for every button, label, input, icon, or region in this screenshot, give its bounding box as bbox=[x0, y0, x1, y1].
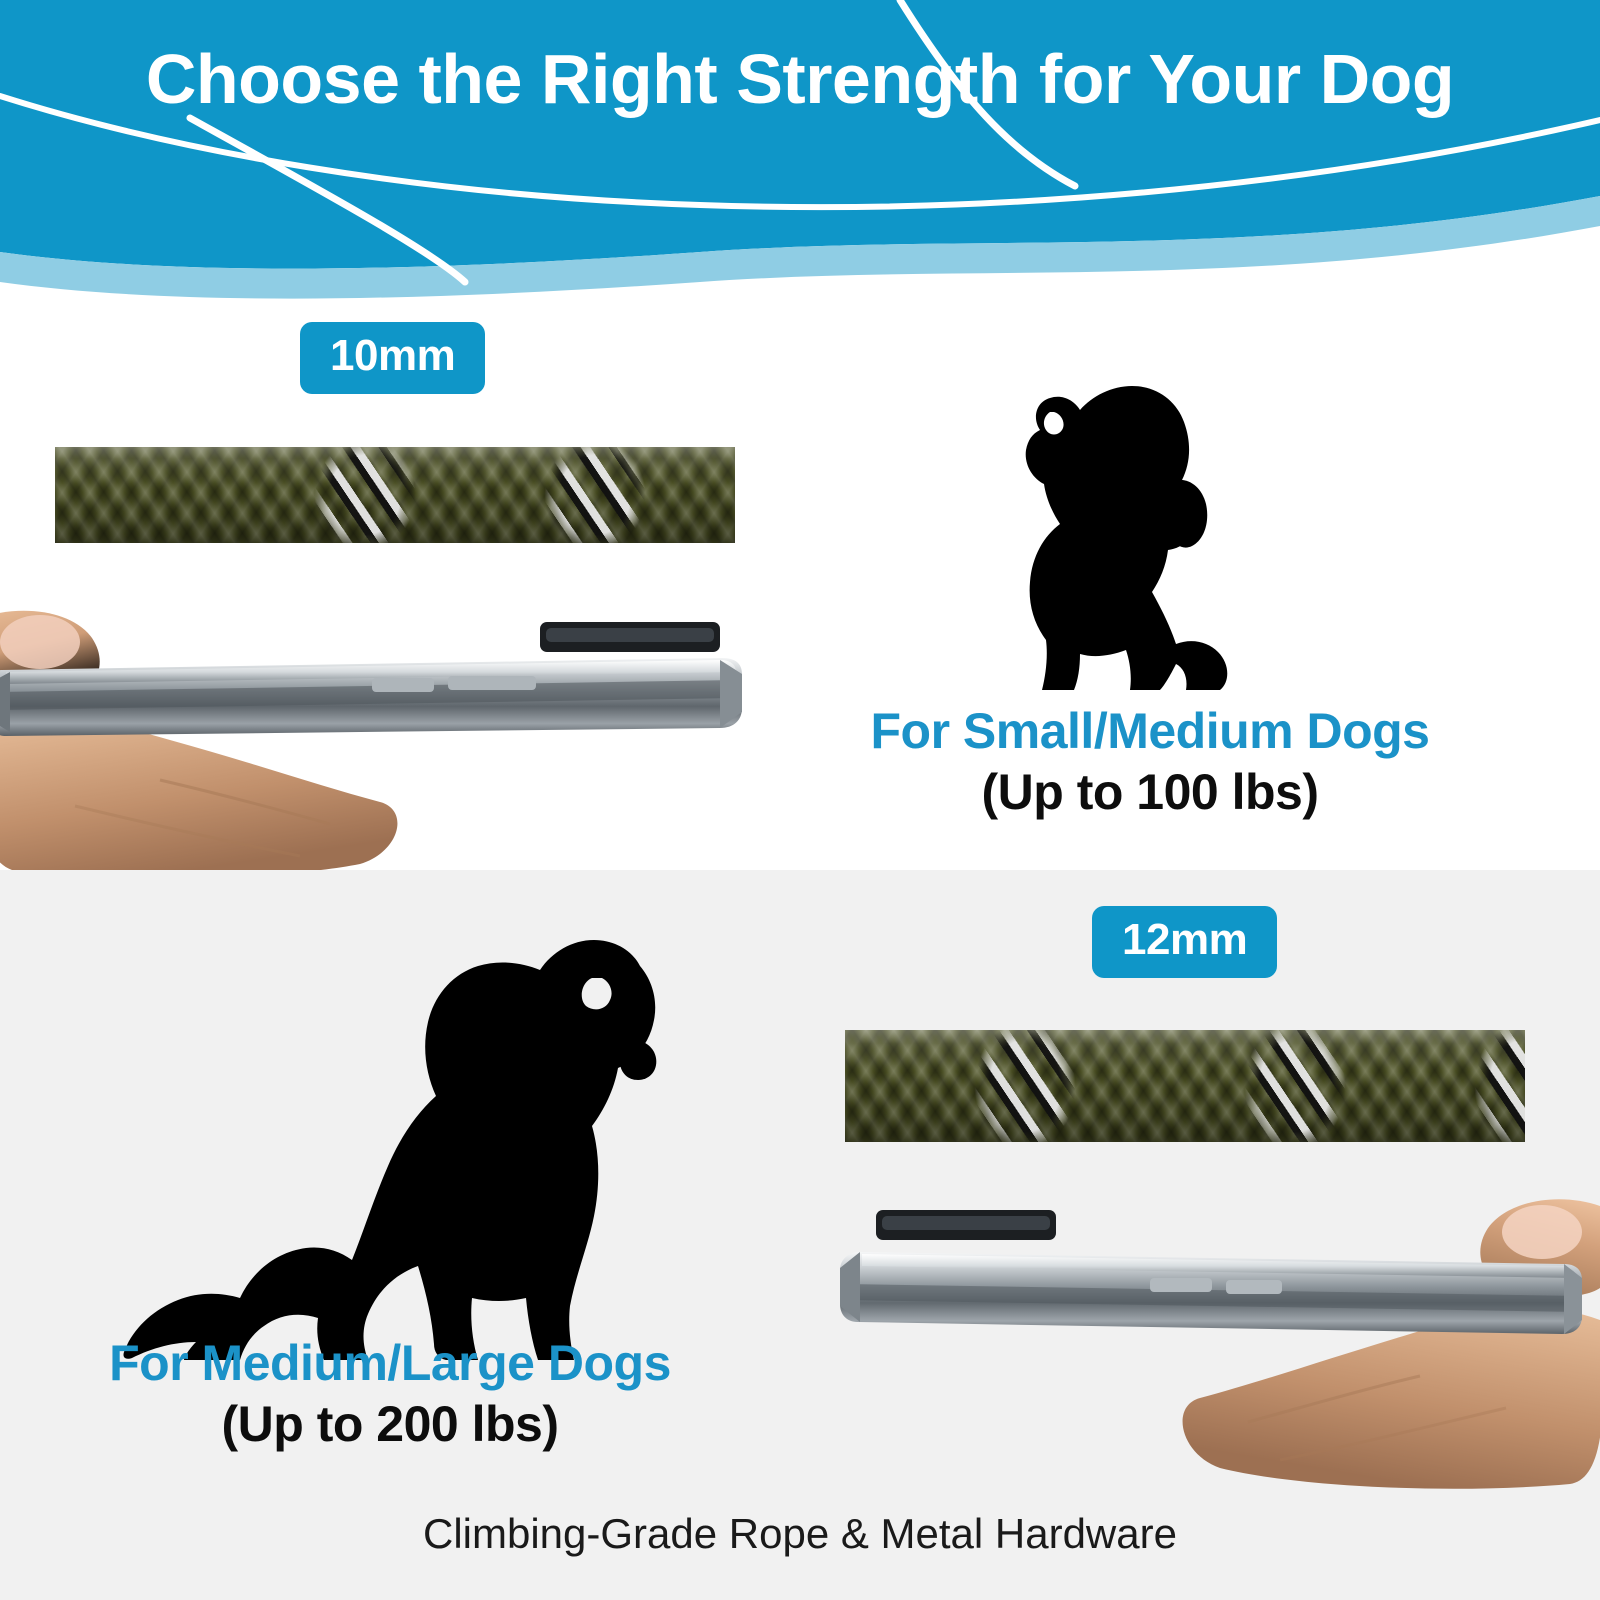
caption-medium-large: For Medium/Large Dogs (Up to 200 lbs) bbox=[40, 1336, 740, 1452]
caption-primary-text: For Small/Medium Dogs bbox=[760, 704, 1540, 758]
infographic-page: Choose the Right Strength for Your Dog 1… bbox=[0, 0, 1600, 1600]
phone-left-endcap bbox=[0, 672, 10, 732]
large-dog-silhouette-icon bbox=[80, 900, 660, 1360]
phone-volume-button bbox=[372, 678, 434, 692]
rope-accent-diamond-icon bbox=[1465, 1030, 1525, 1142]
rope-accent-diamond-icon bbox=[535, 447, 655, 543]
caption-small-medium: For Small/Medium Dogs (Up to 100 lbs) bbox=[760, 704, 1540, 820]
size-badge-10mm: 10mm bbox=[300, 322, 485, 394]
phone-camera-bump-highlight bbox=[546, 628, 714, 642]
phone-power-button bbox=[448, 676, 536, 690]
rope-accent-diamond-icon bbox=[1235, 1030, 1355, 1142]
hand-palm bbox=[1183, 1309, 1600, 1489]
footer-note: Climbing-Grade Rope & Metal Hardware bbox=[0, 1510, 1600, 1558]
phone-camera-bump-highlight bbox=[882, 1216, 1050, 1230]
hand-palm bbox=[0, 718, 397, 870]
hand-holding-phone-icon bbox=[820, 1170, 1600, 1500]
rope-swatch-12mm bbox=[845, 1030, 1525, 1142]
rope-swatch-10mm bbox=[55, 447, 735, 543]
small-dog-silhouette-icon bbox=[980, 360, 1310, 690]
page-title: Choose the Right Strength for Your Dog bbox=[0, 44, 1600, 114]
caption-primary-text: For Medium/Large Dogs bbox=[40, 1336, 740, 1390]
thumbnail bbox=[1502, 1205, 1582, 1259]
phone-volume-button bbox=[1150, 1278, 1212, 1292]
rope-accent-diamond-icon bbox=[305, 447, 425, 543]
caption-secondary-text: (Up to 100 lbs) bbox=[760, 764, 1540, 820]
hand-holding-phone-icon bbox=[0, 580, 760, 870]
size-badge-12mm: 12mm bbox=[1092, 906, 1277, 978]
phone-power-button bbox=[1226, 1280, 1282, 1294]
caption-secondary-text: (Up to 200 lbs) bbox=[40, 1396, 740, 1452]
rope-accent-diamond-icon bbox=[965, 1030, 1085, 1142]
thumbnail bbox=[0, 615, 80, 669]
header-banner: Choose the Right Strength for Your Dog bbox=[0, 0, 1600, 300]
